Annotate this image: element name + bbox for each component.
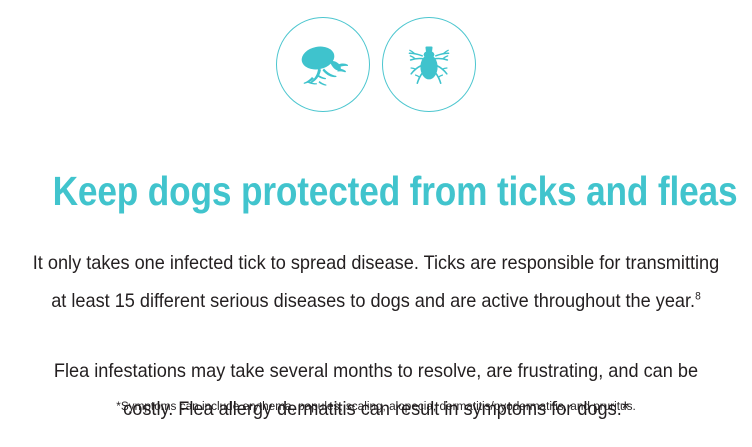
icon-row bbox=[0, 17, 752, 112]
paragraph-fleas-line-1: Flea infestations may take several month… bbox=[54, 360, 698, 382]
paragraph-fleas: Flea infestations may take several month… bbox=[26, 352, 725, 428]
footnote-reference-8: 8 bbox=[695, 290, 701, 302]
footnote-text: *Symptoms can include erythema, papules,… bbox=[19, 398, 733, 414]
promo-panel: Keep dogs protected from ticks and fleas… bbox=[0, 0, 752, 435]
tick-icon-badge bbox=[382, 17, 476, 112]
paragraph-ticks-line-2: at least 15 different serious diseases t… bbox=[51, 290, 695, 312]
tick-icon bbox=[400, 36, 458, 94]
paragraph-ticks-line-1: It only takes one infected tick to sprea… bbox=[33, 252, 719, 274]
flea-icon bbox=[293, 37, 353, 93]
flea-icon-badge bbox=[276, 17, 370, 112]
page-title: Keep dogs protected from ticks and fleas bbox=[53, 168, 700, 214]
paragraph-ticks: It only takes one infected tick to sprea… bbox=[26, 244, 725, 320]
